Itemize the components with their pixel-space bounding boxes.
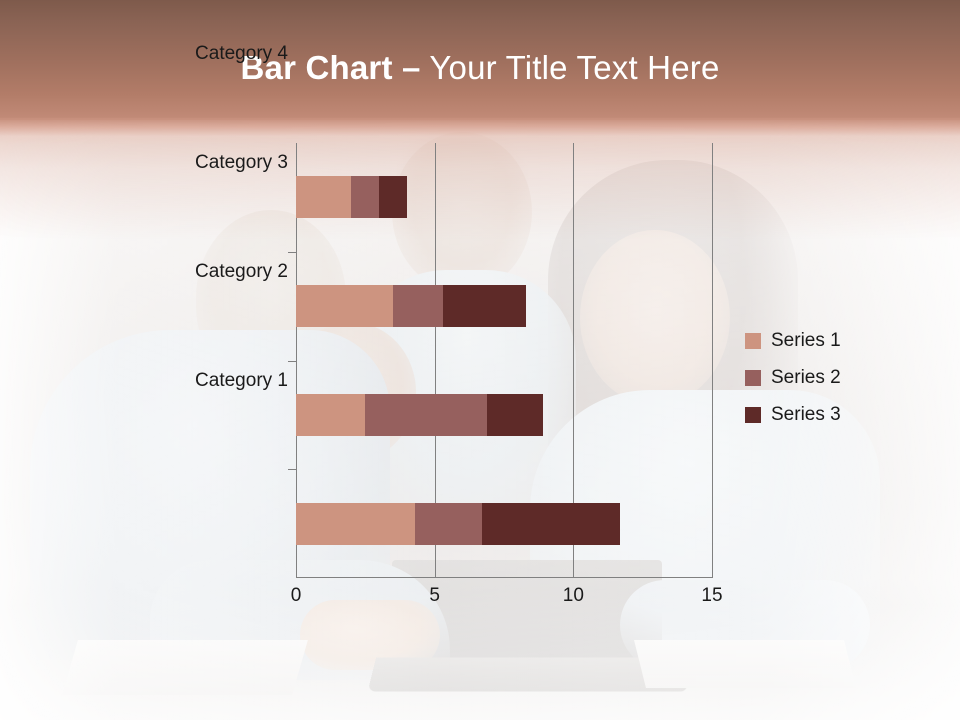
bar-row xyxy=(296,503,620,545)
bar-segment xyxy=(351,176,379,218)
bar-segment xyxy=(482,503,621,545)
legend-label: Series 1 xyxy=(771,330,841,352)
bar-segment xyxy=(487,394,542,436)
bar-segment xyxy=(296,503,415,545)
bar-row xyxy=(296,394,543,436)
bar-segment xyxy=(379,176,407,218)
bar-segment xyxy=(393,285,443,327)
x-axis-tick-label: 5 xyxy=(429,585,440,607)
y-axis-tick xyxy=(288,469,296,470)
x-axis-tick-label: 10 xyxy=(563,585,584,607)
slide: Bar Chart – Your Title Text Here Categor… xyxy=(0,0,960,720)
category-label: Category 4 xyxy=(28,43,288,65)
y-axis-tick xyxy=(288,252,296,253)
bar-chart: Category 1Category 2Category 3Category 4… xyxy=(0,0,960,720)
category-label: Category 2 xyxy=(28,261,288,283)
category-labels: Category 1Category 2Category 3Category 4 xyxy=(20,0,288,435)
legend-swatch-icon xyxy=(745,407,761,423)
bar-row xyxy=(296,285,526,327)
legend-swatch-icon xyxy=(745,333,761,349)
bar-segment xyxy=(365,394,487,436)
plot-area xyxy=(296,143,712,578)
bar-segment xyxy=(296,176,351,218)
category-label: Category 1 xyxy=(28,370,288,392)
chart-legend: Series 1Series 2Series 3 xyxy=(745,322,895,433)
x-axis-tick-label: 15 xyxy=(701,585,722,607)
legend-label: Series 3 xyxy=(771,404,841,426)
bar-segment xyxy=(296,394,365,436)
x-axis-tick-label: 0 xyxy=(291,585,302,607)
category-label: Category 3 xyxy=(28,152,288,174)
legend-label: Series 2 xyxy=(771,367,841,389)
bar-segment xyxy=(296,285,393,327)
gridline xyxy=(712,143,713,578)
legend-swatch-icon xyxy=(745,370,761,386)
y-axis-tick xyxy=(288,361,296,362)
bar-segment xyxy=(415,503,482,545)
bar-row xyxy=(296,176,407,218)
legend-item[interactable]: Series 1 xyxy=(745,322,895,359)
legend-item[interactable]: Series 2 xyxy=(745,359,895,396)
bar-segment xyxy=(443,285,526,327)
legend-item[interactable]: Series 3 xyxy=(745,396,895,433)
